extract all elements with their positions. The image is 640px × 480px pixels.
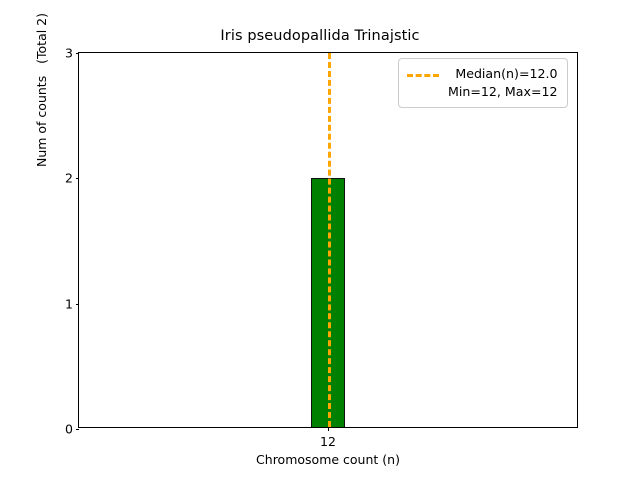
y-axis-label: Num of counts (Total 2) bbox=[34, 0, 49, 240]
x-axis-label: Chromosome count (n) bbox=[78, 452, 578, 467]
legend: Median(n)=12.0 Min=12, Max=12 bbox=[398, 58, 568, 108]
plot-inner-clip bbox=[79, 53, 577, 427]
x-tick-mark-12 bbox=[328, 427, 329, 431]
legend-entries: Median(n)=12.0 Min=12, Max=12 bbox=[448, 65, 558, 101]
legend-dashed-line-icon bbox=[407, 74, 439, 77]
y-tick-label-1: 1 bbox=[65, 296, 73, 311]
y-tick-label-0: 0 bbox=[65, 422, 73, 437]
y-tick-label-3: 3 bbox=[65, 46, 73, 61]
median-line bbox=[328, 53, 331, 427]
legend-label-median: Median(n)=12.0 bbox=[455, 65, 557, 83]
plot-area: 0 1 2 3 12 bbox=[78, 52, 578, 428]
y-tick-label-2: 2 bbox=[65, 171, 73, 186]
y-tick-mark-0 bbox=[76, 429, 80, 430]
legend-label-minmax: Min=12, Max=12 bbox=[448, 83, 558, 101]
x-tick-label-12: 12 bbox=[320, 434, 336, 449]
chart-title: Iris pseudopallida Trinajstic bbox=[0, 28, 640, 44]
figure-canvas: Iris pseudopallida Trinajstic Num of cou… bbox=[0, 0, 640, 480]
